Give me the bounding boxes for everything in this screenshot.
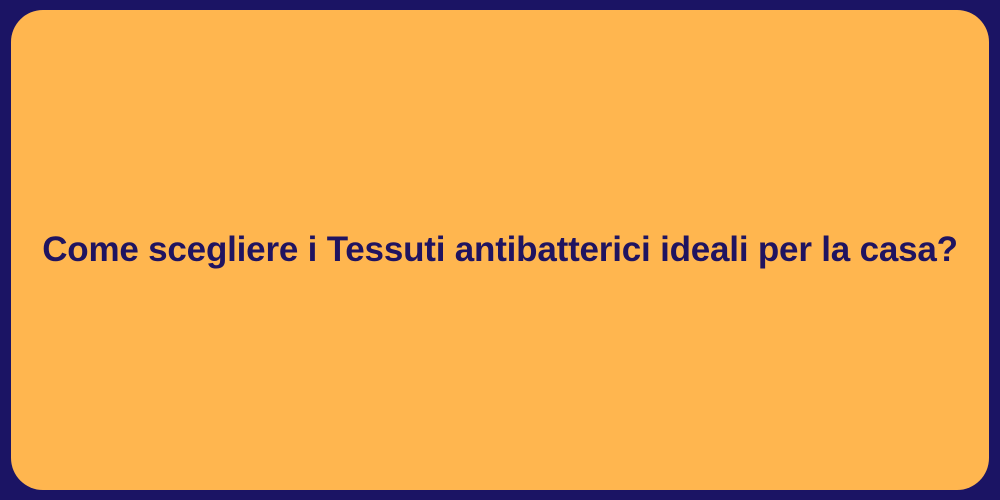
- banner-heading: Come scegliere i Tessuti antibatterici i…: [2, 228, 998, 272]
- banner-background: Come scegliere i Tessuti antibatterici i…: [0, 0, 1000, 500]
- banner-card: Come scegliere i Tessuti antibatterici i…: [11, 10, 989, 490]
